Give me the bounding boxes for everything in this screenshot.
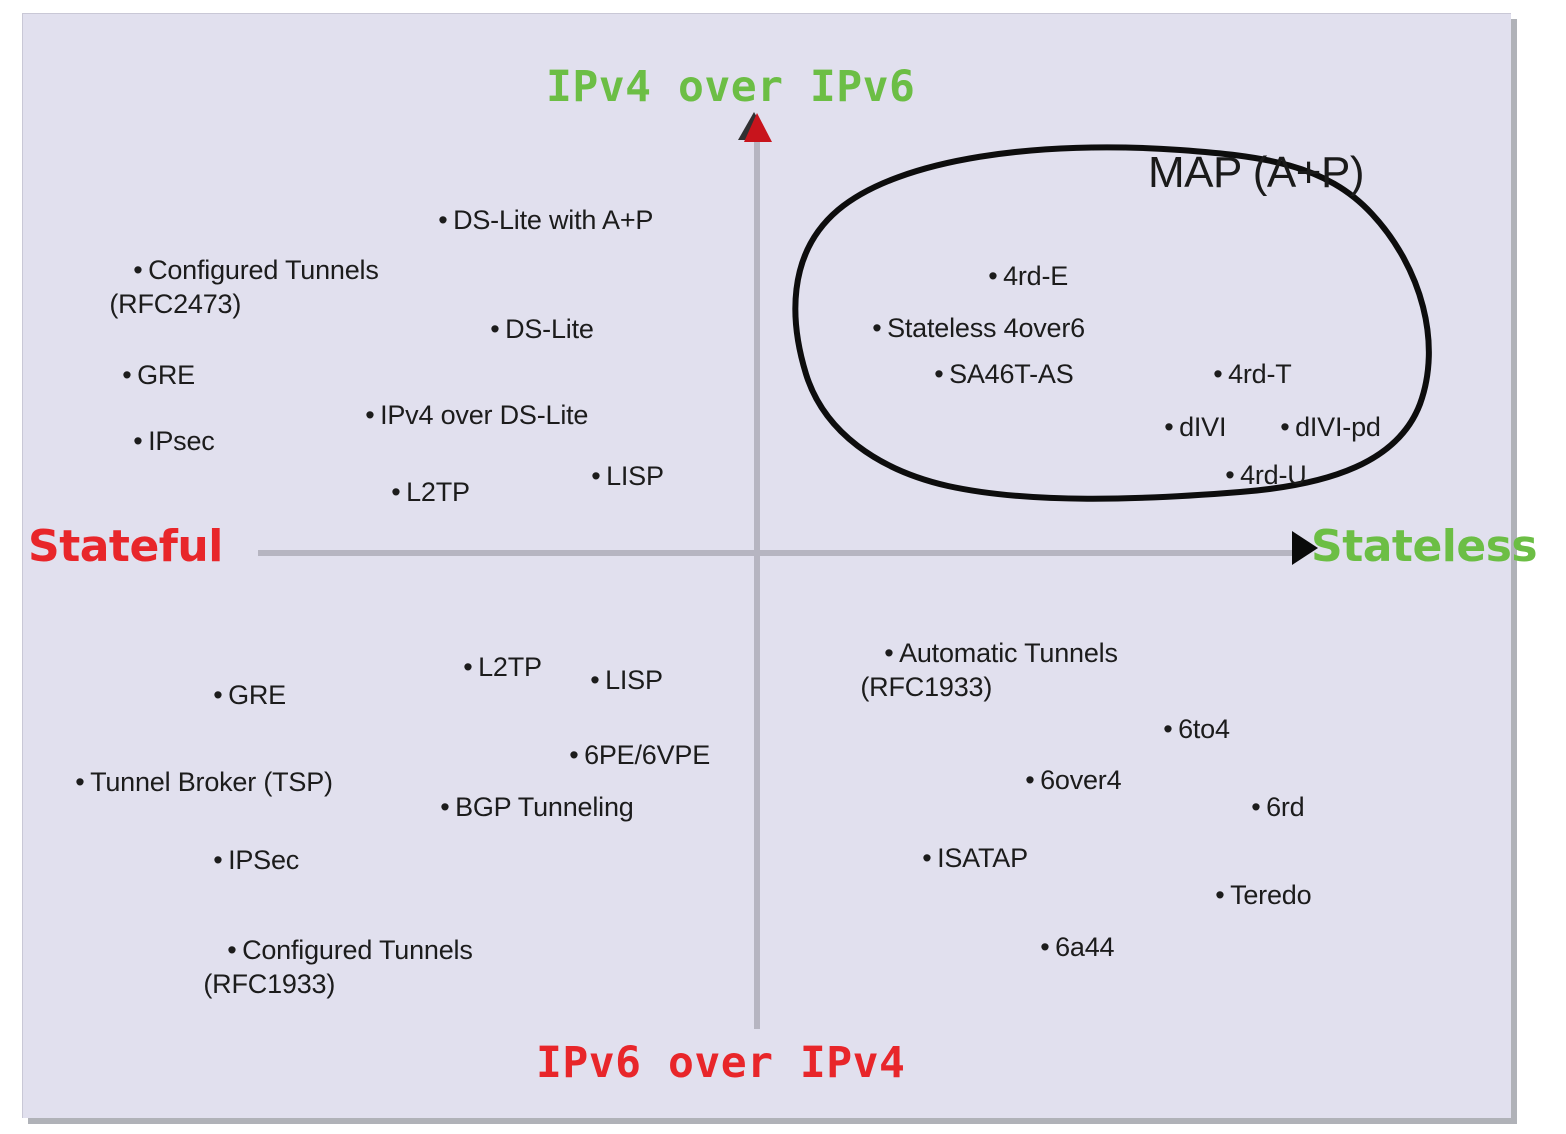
bullet-icon: • (1251, 790, 1266, 825)
item-6a44: •6a44 (1011, 895, 1114, 999)
bullet-icon: • (1225, 458, 1240, 493)
bullet-icon: • (391, 475, 406, 510)
bullet-icon: • (922, 841, 937, 876)
bullet-icon: • (213, 678, 228, 713)
item-isatap: •ISATAP (893, 806, 1028, 910)
bullet-icon: • (438, 203, 453, 238)
bullet-icon: • (872, 311, 887, 346)
bullet-icon: • (884, 636, 899, 671)
item-ipsec-lower: •IPSec (184, 808, 299, 912)
bullet-icon: • (75, 765, 90, 800)
item-subtext: (RFC2473) (104, 287, 379, 322)
item-sa46t-as: •SA46T-AS (905, 322, 1074, 426)
slide-canvas: IPv4 over IPv6 IPv6 over IPv4 Stateful S… (0, 0, 1566, 1134)
axis-label-bottom: IPv6 over IPv4 (536, 1038, 905, 1088)
bullet-icon: • (122, 358, 137, 393)
item-teredo: •Teredo (1186, 843, 1311, 947)
bullet-icon: • (213, 843, 228, 878)
item-6to4: •6to4 (1134, 677, 1230, 781)
bullet-icon: • (934, 357, 949, 392)
item-subtext: (RFC1933) (855, 670, 1118, 705)
item-ds-lite-with-ap: •DS-Lite with A+P (409, 168, 653, 272)
bullet-icon: • (1163, 712, 1178, 747)
bullet-icon: • (1164, 410, 1179, 445)
axis-label-right: Stateless (1311, 521, 1537, 572)
bullet-icon: • (365, 398, 380, 433)
axis-label-top: IPv4 over IPv6 (546, 62, 915, 112)
bullet-icon: • (1040, 930, 1055, 965)
axis-label-left: Stateful (28, 521, 223, 572)
item-lisp-upper: •LISP (562, 424, 664, 528)
item-subtext: (RFC1933) (198, 967, 473, 1002)
bullet-icon: • (133, 253, 148, 288)
bullet-icon: • (463, 650, 478, 685)
item-configured-tunnels-rfc1933: •Configured Tunnels(RFC1933) (198, 898, 473, 1071)
bullet-icon: • (227, 933, 242, 968)
bullet-icon: • (490, 312, 505, 347)
bullet-icon: • (591, 459, 606, 494)
bullet-icon: • (1025, 763, 1040, 798)
item-ipsec-upper: •IPsec (104, 389, 215, 493)
item-4rd-u: •4rd-U (1196, 423, 1307, 527)
bullet-icon: • (440, 790, 455, 825)
map-group-caption: MAP (A+P) (1148, 148, 1364, 198)
item-l2tp-lower: •L2TP (434, 615, 542, 719)
item-l2tp-upper: •L2TP (362, 440, 470, 544)
bullet-icon: • (1215, 878, 1230, 913)
bullet-icon: • (590, 663, 605, 698)
bullet-icon: • (133, 424, 148, 459)
item-bgp-tunneling: •BGP Tunneling (411, 755, 634, 859)
